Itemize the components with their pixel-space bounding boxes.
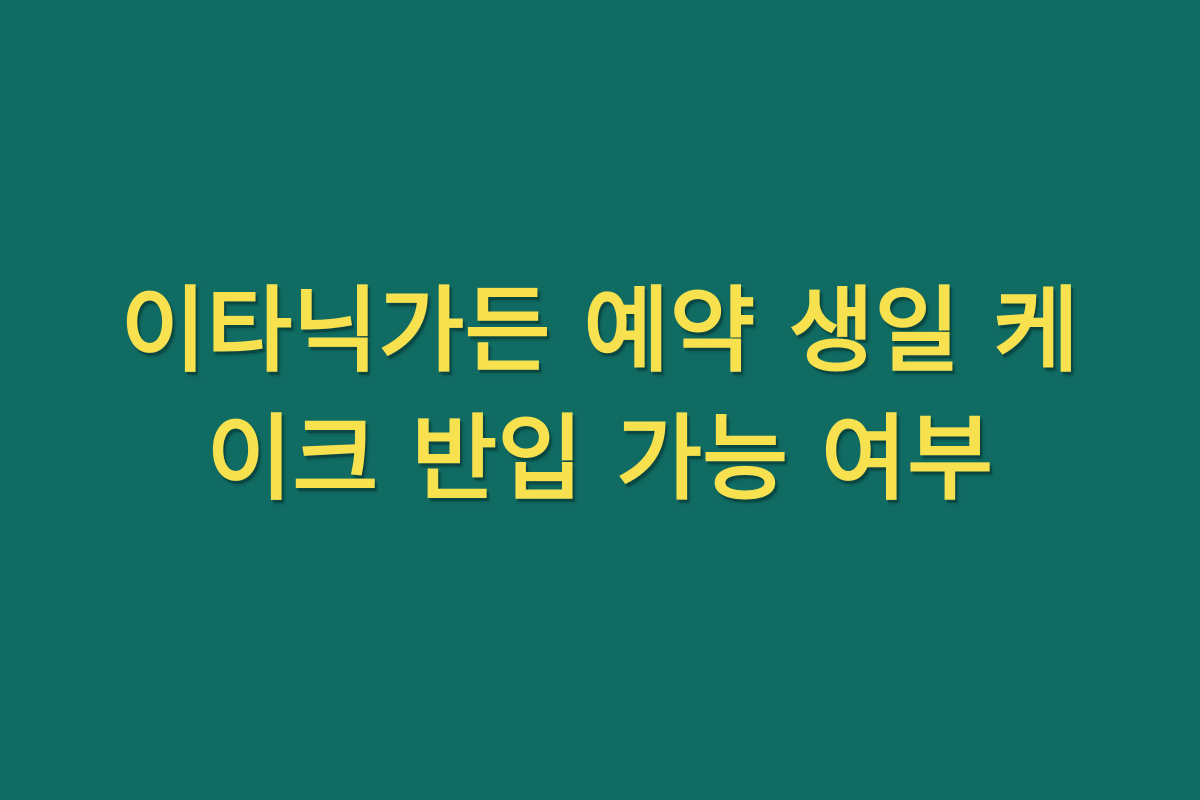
title-banner: 이타닉가든 예약 생일 케 이크 반입 가능 여부 — [0, 0, 1200, 800]
headline-line-2: 이크 반입 가능 여부 — [70, 395, 1130, 523]
headline-line-1: 이타닉가든 예약 생일 케 — [70, 267, 1130, 395]
banner-headline: 이타닉가든 예약 생일 케 이크 반입 가능 여부 — [70, 267, 1130, 524]
